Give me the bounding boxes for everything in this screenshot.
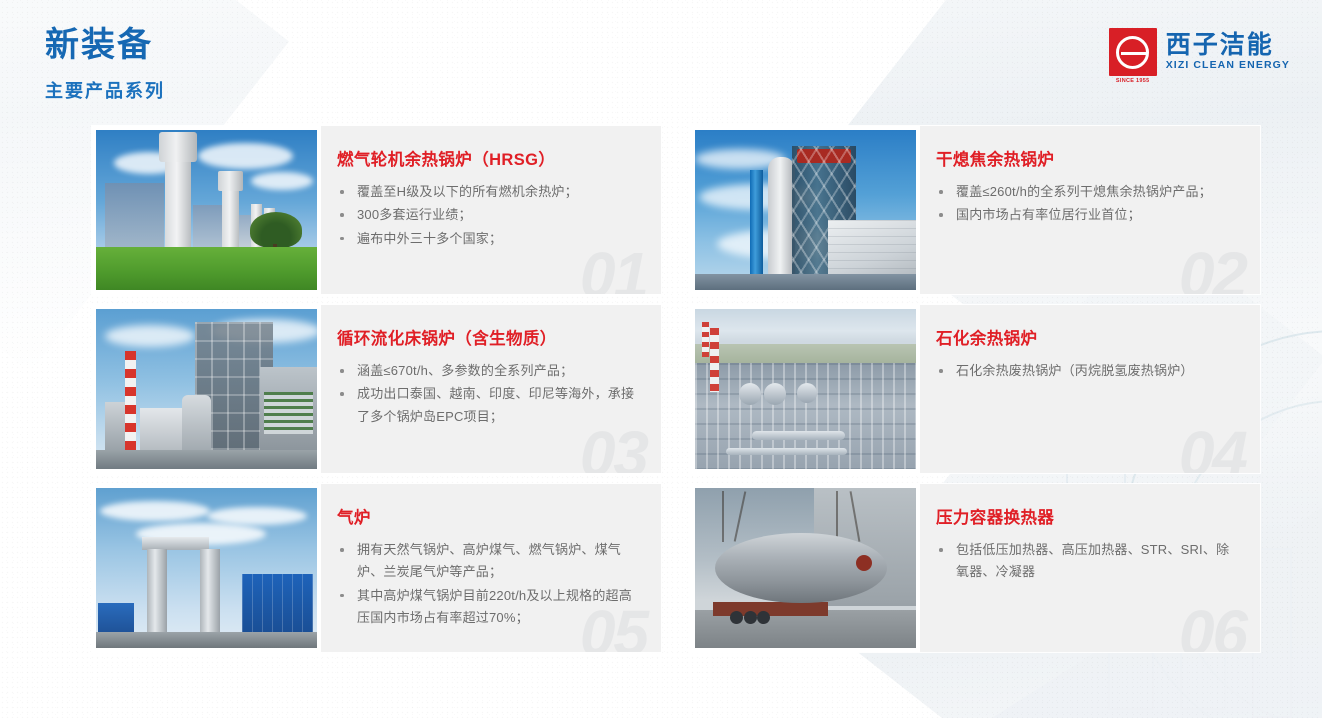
list-item: 其中高炉煤气锅炉目前220t/h及以上规格的超高压国内市场占有率超过70%；: [337, 585, 643, 630]
page-title: 新装备: [45, 26, 165, 65]
card-bullet-list: 涵盖≤670t/h、多参数的全系列产品； 成功出口泰国、越南、印度、印尼等海外，…: [337, 360, 643, 428]
list-item: 拥有天然气锅炉、高炉煤气、燃气锅炉、煤气炉、兰炭尾气炉等产品；: [337, 539, 643, 584]
card-bullet-list: 覆盖至H级及以下的所有燃机余热炉； 300多套运行业绩； 遍布中外三十多个国家；: [337, 181, 643, 250]
list-item: 覆盖≤260t/h的全系列干熄焦余热锅炉产品；: [936, 181, 1242, 203]
card-photo-coke-dry-quenching: [691, 126, 920, 294]
card-title: 气炉: [337, 504, 643, 528]
list-item: 包括低压加热器、高压加热器、STR、SRI、除氧器、冷凝器: [936, 539, 1242, 584]
product-card[interactable]: 石化余热锅炉 石化余热废热锅炉（丙烷脱氢废热锅炉） 04: [691, 305, 1260, 473]
product-card[interactable]: 压力容器换热器 包括低压加热器、高压加热器、STR、SRI、除氧器、冷凝器 06: [691, 484, 1260, 652]
list-item: 国内市场占有率位居行业首位；: [936, 204, 1242, 226]
card-title: 石化余热锅炉: [936, 325, 1242, 349]
card-body: 压力容器换热器 包括低压加热器、高压加热器、STR、SRI、除氧器、冷凝器: [920, 484, 1260, 652]
card-body: 循环流化床锅炉（含生物质） 涵盖≤670t/h、多参数的全系列产品； 成功出口泰…: [321, 305, 661, 473]
logo-wordmark: 西子洁能 XIZI CLEAN ENERGY: [1166, 33, 1290, 71]
product-card[interactable]: 燃气轮机余热锅炉（HRSG） 覆盖至H级及以下的所有燃机余热炉； 300多套运行…: [92, 126, 661, 294]
card-title: 压力容器换热器: [936, 504, 1242, 528]
list-item: 覆盖至H级及以下的所有燃机余热炉；: [337, 181, 643, 203]
card-photo-gas-turbine-plant: [92, 126, 321, 294]
list-item: 成功出口泰国、越南、印度、印尼等海外，承接了多个锅炉岛EPC项目；: [337, 383, 643, 428]
list-item: 涵盖≤670t/h、多参数的全系列产品；: [337, 360, 643, 382]
product-card[interactable]: 循环流化床锅炉（含生物质） 涵盖≤670t/h、多参数的全系列产品； 成功出口泰…: [92, 305, 661, 473]
product-card[interactable]: 干熄焦余热锅炉 覆盖≤260t/h的全系列干熄焦余热锅炉产品； 国内市场占有率位…: [691, 126, 1260, 294]
logo-name-cn: 西子洁能: [1166, 33, 1290, 58]
card-title: 燃气轮机余热锅炉（HRSG）: [337, 146, 643, 170]
card-photo-petrochemical-plant: [691, 305, 920, 473]
page-subtitle: 主要产品系列: [45, 77, 165, 103]
card-title: 干熄焦余热锅炉: [936, 146, 1242, 170]
card-photo-gas-fired-boiler: [92, 484, 321, 652]
card-bullet-list: 石化余热废热锅炉（丙烷脱氢废热锅炉）: [936, 360, 1242, 382]
slide-canvas: 新装备 主要产品系列 SINCE 1955 西子洁能 XIZI CLEAN EN…: [0, 0, 1322, 718]
product-card[interactable]: 气炉 拥有天然气锅炉、高炉煤气、燃气锅炉、煤气炉、兰炭尾气炉等产品； 其中高炉煤…: [92, 484, 661, 652]
card-bullet-list: 包括低压加热器、高压加热器、STR、SRI、除氧器、冷凝器: [936, 539, 1242, 584]
xizi-e-monogram-icon: SINCE 1955: [1109, 28, 1157, 76]
list-item: 遍布中外三十多个国家；: [337, 228, 643, 250]
logo-name-en: XIZI CLEAN ENERGY: [1166, 60, 1290, 71]
product-card-grid: 燃气轮机余热锅炉（HRSG） 覆盖至H级及以下的所有燃机余热炉； 300多套运行…: [92, 126, 1260, 651]
page-header: 新装备 主要产品系列: [45, 26, 165, 103]
card-body: 干熄焦余热锅炉 覆盖≤260t/h的全系列干熄焦余热锅炉产品； 国内市场占有率位…: [920, 126, 1260, 294]
card-photo-cfb-boiler: [92, 305, 321, 473]
card-photo-pressure-vessel: [691, 484, 920, 652]
card-bullet-list: 拥有天然气锅炉、高炉煤气、燃气锅炉、煤气炉、兰炭尾气炉等产品； 其中高炉煤气锅炉…: [337, 539, 643, 629]
brand-logo: SINCE 1955 西子洁能 XIZI CLEAN ENERGY: [1109, 28, 1290, 76]
card-title: 循环流化床锅炉（含生物质）: [337, 325, 643, 349]
list-item: 300多套运行业绩；: [337, 204, 643, 226]
card-bullet-list: 覆盖≤260t/h的全系列干熄焦余热锅炉产品； 国内市场占有率位居行业首位；: [936, 181, 1242, 227]
card-body: 石化余热锅炉 石化余热废热锅炉（丙烷脱氢废热锅炉）: [920, 305, 1260, 473]
card-body: 燃气轮机余热锅炉（HRSG） 覆盖至H级及以下的所有燃机余热炉； 300多套运行…: [321, 126, 661, 294]
card-body: 气炉 拥有天然气锅炉、高炉煤气、燃气锅炉、煤气炉、兰炭尾气炉等产品； 其中高炉煤…: [321, 484, 661, 652]
logo-ring-shape: [1116, 36, 1149, 69]
list-item: 石化余热废热锅炉（丙烷脱氢废热锅炉）: [936, 360, 1242, 382]
logo-since-text: SINCE 1955: [1109, 78, 1157, 84]
